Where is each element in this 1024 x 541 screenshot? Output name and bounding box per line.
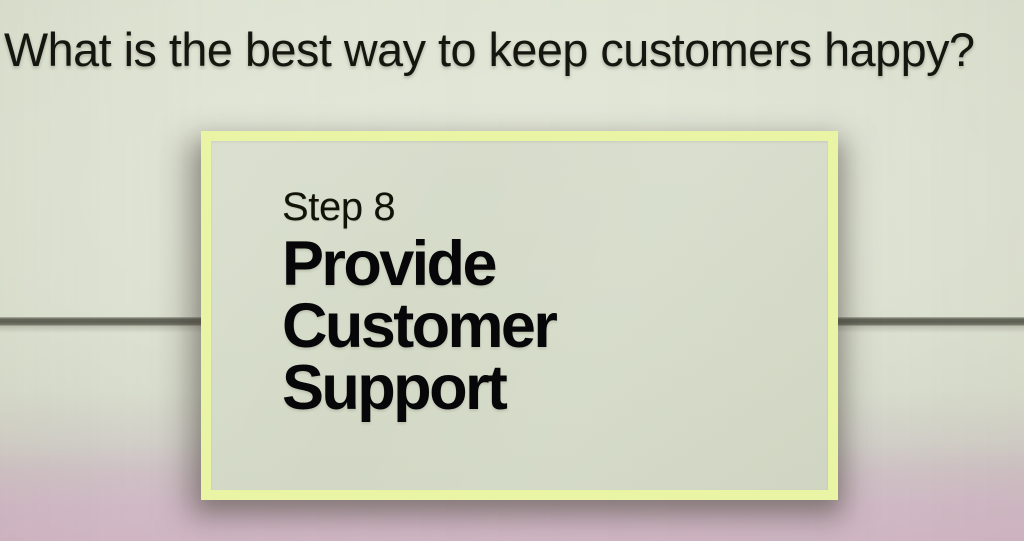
step-title: Provide Customer Support [282,233,814,419]
slide-headline: What is the best way to keep customers h… [4,22,1015,78]
slide-canvas: What is the best way to keep customers h… [0,0,1024,541]
step-title-line-3: Support [282,357,814,419]
step-number-label: Step 8 [282,185,814,229]
step-card-content: Step 8 Provide Customer Support [282,185,814,419]
step-card-panel: Step 8 Provide Customer Support [211,141,828,490]
step-card: Step 8 Provide Customer Support [201,131,838,500]
step-title-line-2: Customer [282,295,814,357]
step-title-line-1: Provide [282,233,814,295]
